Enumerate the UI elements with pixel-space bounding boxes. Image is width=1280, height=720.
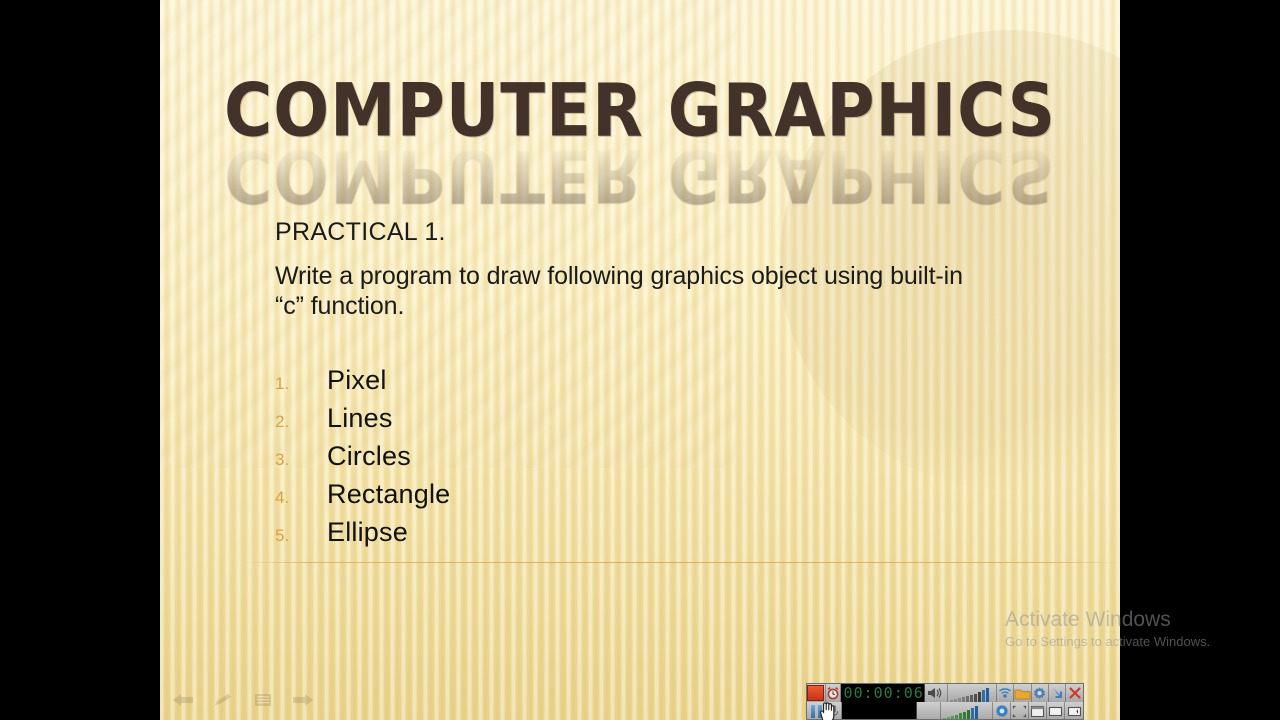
alarm-clock-icon[interactable] bbox=[826, 684, 841, 702]
screen: COMPUTER GRAPHICS COMPUTER GRAPHICS PRAC… bbox=[0, 0, 1280, 720]
pen-icon[interactable] bbox=[210, 690, 236, 710]
horizontal-divider bbox=[240, 562, 1120, 563]
recorder-bottom-row bbox=[807, 702, 1083, 720]
mic-level-meter bbox=[941, 702, 993, 720]
list-item-label: Pixel bbox=[327, 365, 387, 396]
menu-icon[interactable] bbox=[250, 690, 276, 710]
slide-body-block: PRACTICAL 1. Write a program to draw fol… bbox=[275, 218, 1075, 321]
screen-recorder-toolbar[interactable]: 00:00:06 bbox=[806, 683, 1084, 720]
mic-level-label bbox=[917, 702, 941, 720]
list-item-number: 3. bbox=[275, 450, 327, 470]
list-item: 4. Rectangle bbox=[275, 479, 735, 517]
graphics-object-list: 1. Pixel 2. Lines 3. Circles 4. Rectangl… bbox=[275, 365, 735, 555]
presentation-slide[interactable]: COMPUTER GRAPHICS COMPUTER GRAPHICS PRAC… bbox=[160, 0, 1120, 720]
list-item: 5. Ellipse bbox=[275, 517, 735, 555]
list-item: 2. Lines bbox=[275, 403, 735, 441]
list-item-label: Circles bbox=[327, 441, 411, 472]
speaker-icon[interactable] bbox=[925, 684, 948, 702]
fullscreen-icon[interactable] bbox=[1047, 702, 1065, 720]
timer-underlay bbox=[842, 702, 918, 720]
list-item-number: 1. bbox=[275, 374, 327, 394]
list-item-number: 2. bbox=[275, 412, 327, 432]
recorder-top-row: 00:00:06 bbox=[807, 684, 1083, 702]
list-item-number: 5. bbox=[275, 526, 327, 546]
previous-arrow-icon[interactable] bbox=[170, 690, 196, 710]
next-arrow-icon[interactable] bbox=[290, 690, 316, 710]
list-item-label: Lines bbox=[327, 403, 393, 434]
microphone-icon[interactable] bbox=[827, 702, 842, 720]
minimize-arrow-icon[interactable] bbox=[1049, 684, 1066, 702]
record-circle-icon[interactable] bbox=[993, 702, 1011, 720]
window-capture-icon[interactable] bbox=[1029, 702, 1047, 720]
page-title: COMPUTER GRAPHICS bbox=[160, 74, 1120, 147]
page-title-reflection: COMPUTER GRAPHICS bbox=[160, 139, 1120, 212]
speaker-level-meter bbox=[948, 684, 997, 702]
list-item: 1. Pixel bbox=[275, 365, 735, 403]
close-icon[interactable] bbox=[1066, 684, 1083, 702]
list-item-number: 4. bbox=[275, 488, 327, 508]
wifi-icon[interactable] bbox=[997, 684, 1014, 702]
stop-button[interactable] bbox=[807, 684, 826, 702]
list-item: 3. Circles bbox=[275, 441, 735, 479]
folder-icon[interactable] bbox=[1014, 684, 1032, 702]
screen-mode-icon[interactable] bbox=[1065, 702, 1083, 720]
pause-button[interactable] bbox=[807, 702, 827, 720]
list-item-label: Rectangle bbox=[327, 479, 450, 510]
pause-bars-icon bbox=[811, 705, 822, 718]
recording-timer: 00:00:06 bbox=[841, 684, 925, 702]
practical-label: PRACTICAL 1. bbox=[275, 218, 1075, 247]
slideshow-nav-controls bbox=[170, 690, 316, 710]
stop-square-icon bbox=[807, 685, 824, 701]
body-text: Write a program to draw following graphi… bbox=[275, 261, 965, 321]
list-item-label: Ellipse bbox=[327, 517, 408, 548]
crop-region-icon[interactable] bbox=[1011, 702, 1029, 720]
gear-icon[interactable] bbox=[1032, 684, 1049, 702]
